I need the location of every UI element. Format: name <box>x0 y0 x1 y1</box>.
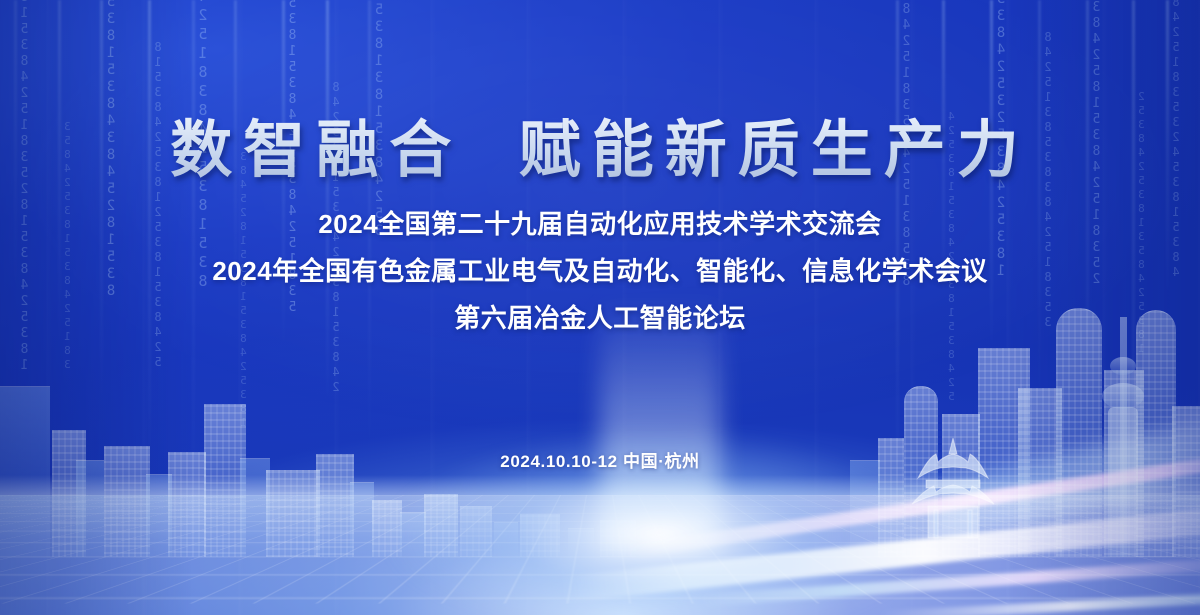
main-title: 数智融合 赋能新质生产力 <box>0 0 1200 185</box>
date-location: 2024.10.10-12 中国·杭州 <box>0 447 1200 472</box>
subtitle-line-2: 2024年全国有色金属工业电气及自动化、智能化、信息化学术会议 <box>0 251 1200 288</box>
subtitle-line-1: 2024全国第二十九届自动化应用技术学术交流会 <box>0 204 1200 241</box>
banner-text-block: 数智融合 赋能新质生产力 2024全国第二十九届自动化应用技术学术交流会 202… <box>0 0 1200 335</box>
subtitle-line-3: 第六届冶金人工智能论坛 <box>0 298 1200 335</box>
conference-banner: 8153842518352815384253813584253815384251… <box>0 0 1200 615</box>
